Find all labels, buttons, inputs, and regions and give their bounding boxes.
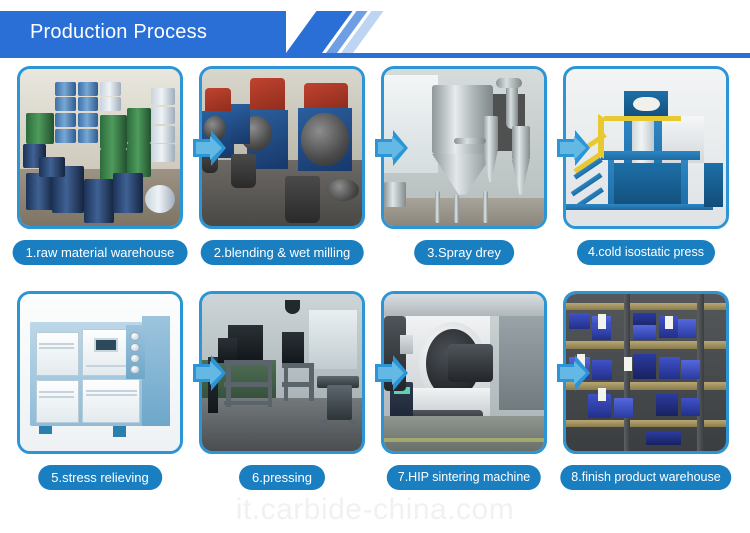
photo-stress-relieving-chiller — [20, 294, 180, 451]
production-process-infographic: Production Process — [0, 0, 750, 533]
photo-raw-material-warehouse — [20, 69, 180, 226]
process-row-1: 1.raw material warehouse — [0, 66, 750, 291]
flow-arrow-icon — [189, 127, 229, 169]
process-grid: 1.raw material warehouse — [0, 66, 750, 516]
step-caption: 3.Spray drey — [414, 240, 514, 265]
flow-arrow-icon — [371, 127, 411, 169]
flow-arrow-icon — [371, 352, 411, 394]
step-caption: 7.HIP sintering machine — [387, 465, 541, 490]
step-caption: 8.finish product warehouse — [560, 465, 731, 490]
step-caption: 2.blending & wet milling — [201, 240, 364, 265]
site-watermark: it.carbide-china.com — [0, 493, 750, 527]
page-title: Production Process — [30, 11, 207, 53]
flow-arrow-icon — [553, 352, 593, 394]
process-row-2: 5.stress relieving — [0, 291, 750, 516]
process-step-5[interactable]: 5.stress relieving — [17, 291, 183, 454]
header-banner: Production Process — [0, 11, 750, 53]
process-step-1[interactable]: 1.raw material warehouse — [17, 66, 183, 229]
step-caption: 6.pressing — [239, 465, 325, 490]
flow-arrow-icon — [553, 127, 593, 169]
step-caption: 5.stress relieving — [38, 465, 162, 490]
step-photo-card — [17, 66, 183, 229]
header-underline — [0, 53, 750, 58]
flow-arrow-icon — [189, 352, 229, 394]
step-caption: 4.cold isostatic press — [577, 240, 715, 265]
step-caption: 1.raw material warehouse — [13, 240, 188, 265]
step-photo-card — [17, 291, 183, 454]
